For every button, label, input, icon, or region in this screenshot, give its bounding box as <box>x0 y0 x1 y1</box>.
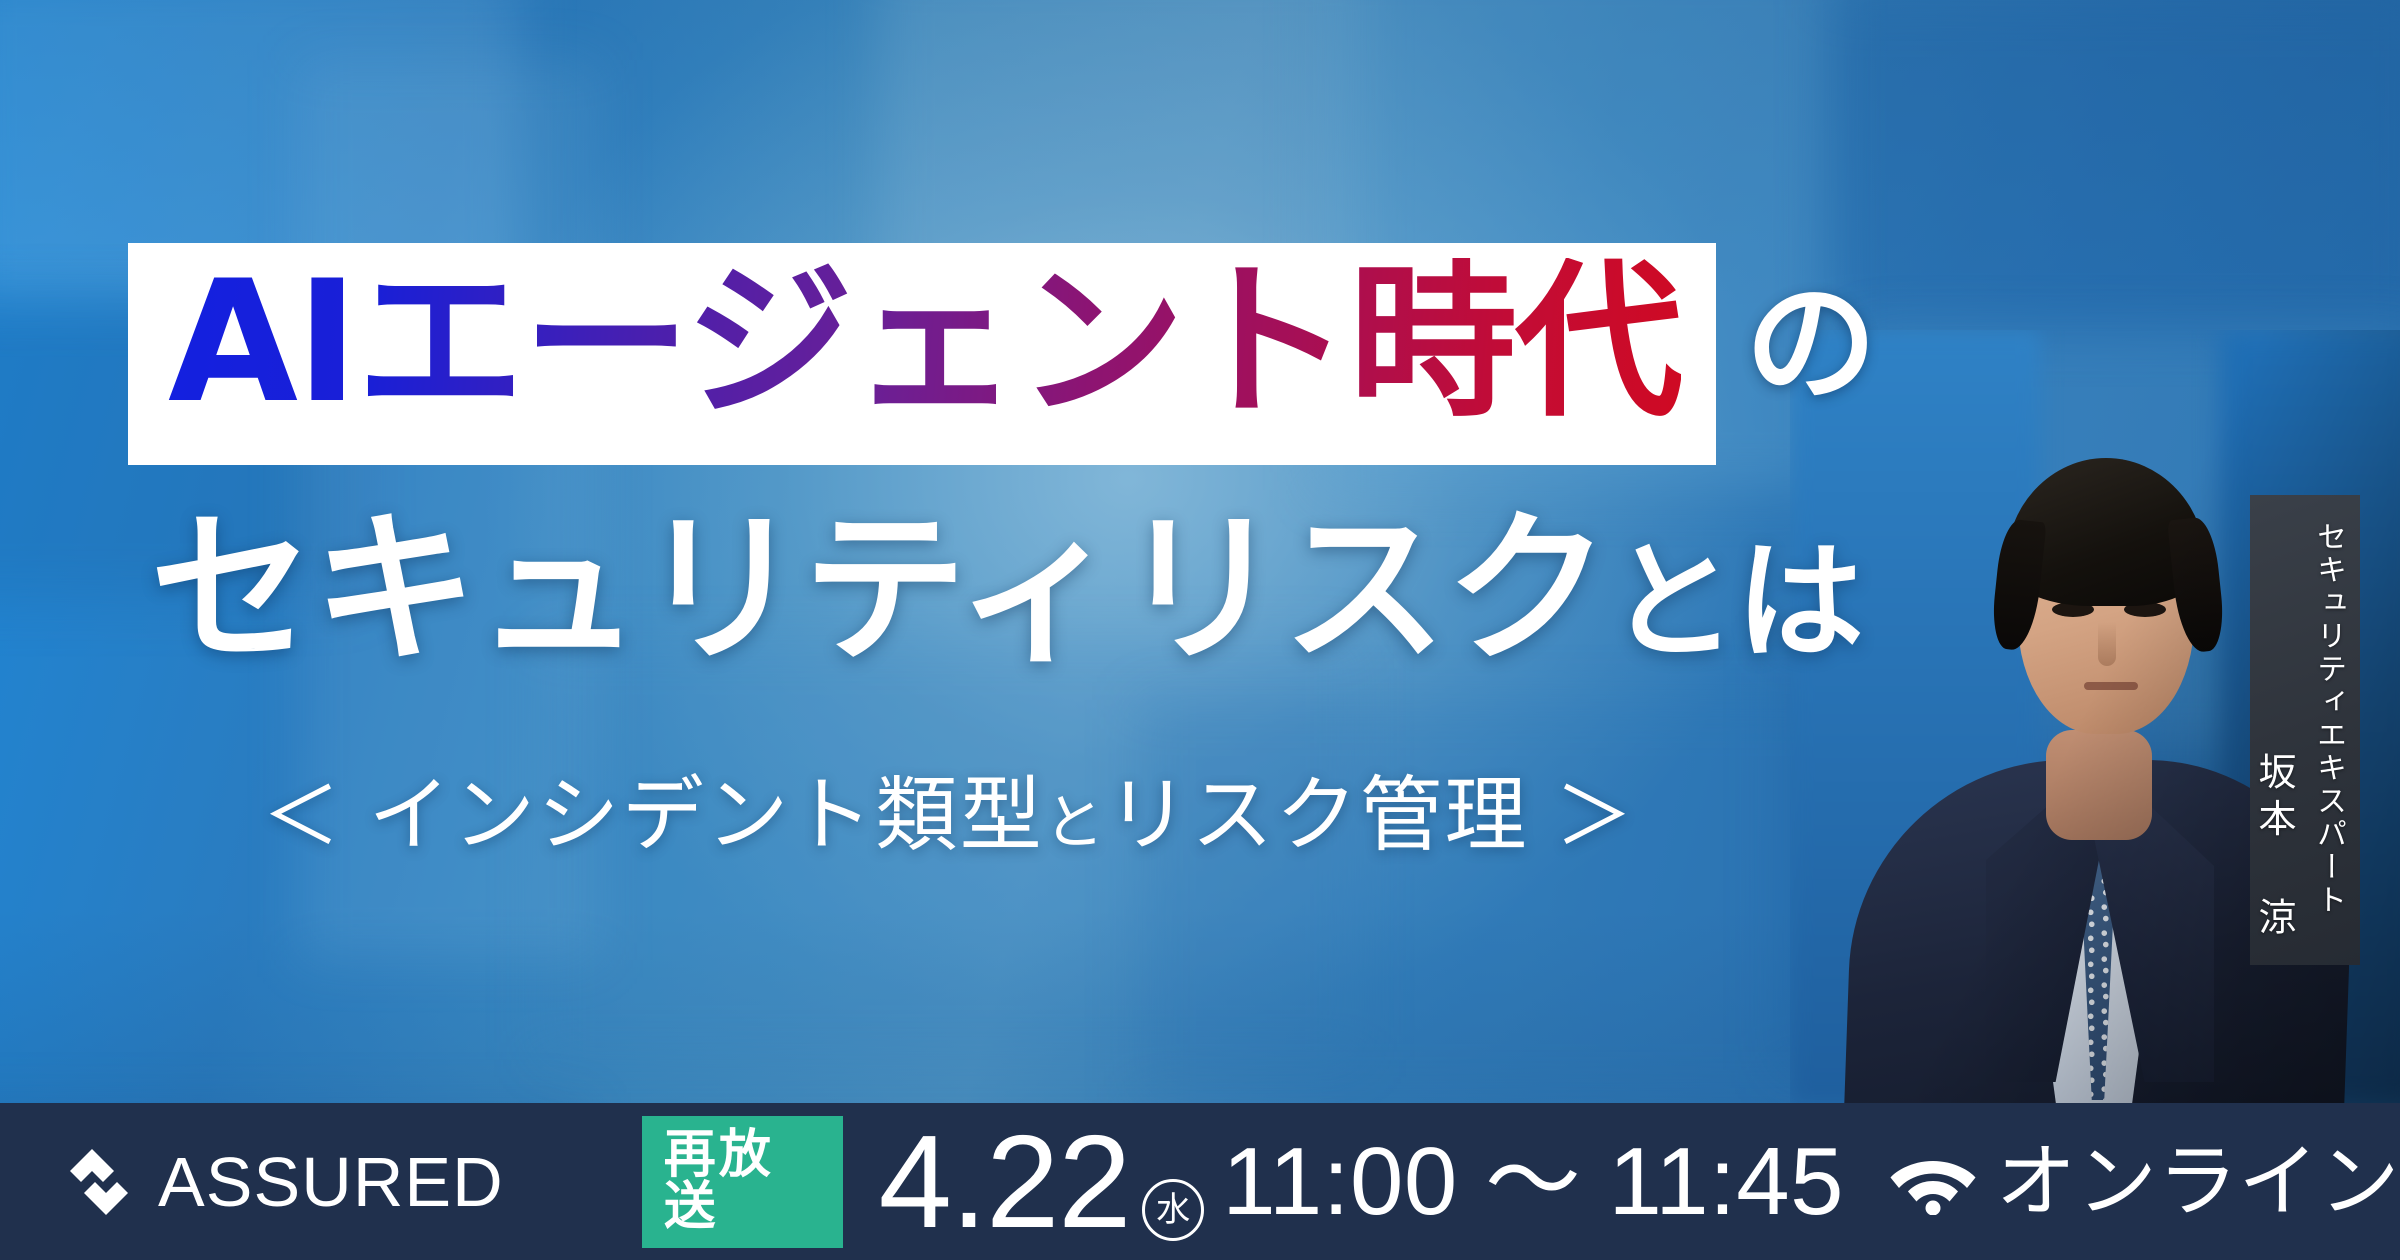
event-time: 11:00 〜 11:45 <box>1222 1134 1844 1230</box>
rebroadcast-badge: 再放送 <box>642 1116 843 1248</box>
subtitle-part-a: インシデント類型 <box>368 768 1044 863</box>
bracket-close-icon: ＞ <box>1529 772 1661 862</box>
speaker-title: セキュリティエキスパート <box>2306 521 2350 917</box>
headline-subtitle: ＜インシデント類型とリスク管理＞ <box>236 775 1661 857</box>
event-venue-group: オンライン <box>1890 1142 2400 1222</box>
subtitle-part-b: リスク管理 <box>1107 768 1529 863</box>
assured-wordmark: ASSURED <box>158 1142 504 1222</box>
headline-line2-tail: とは <box>1609 528 1863 677</box>
headline-line2-main: セキュリティリスク <box>150 494 1609 685</box>
assured-logo[interactable]: ASSURED <box>62 1142 504 1222</box>
bracket-open-icon: ＜ <box>236 772 368 862</box>
headline-gradient-text: AIエージェント時代 <box>168 258 1681 426</box>
day-of-week-badge: 水 <box>1142 1179 1204 1241</box>
assured-diamond-check-icon <box>62 1145 136 1219</box>
headline-suffix: の <box>1745 278 1877 410</box>
event-venue: オンライン <box>1996 1142 2400 1222</box>
wifi-icon <box>1890 1149 1976 1215</box>
headline-line2: セキュリティリスクとは <box>150 508 1863 672</box>
event-date-group: 4.22 水 <box>879 1116 1205 1248</box>
subtitle-conjunction: と <box>1044 788 1106 858</box>
webinar-banner: セキュリティエキスパート 坂本 涼 AIエージェント時代 の セキュリティリスク… <box>0 0 2400 1260</box>
speaker-name: 坂本 涼 <box>2247 752 2302 943</box>
event-info-bar: ASSURED 再放送 4.22 水 11:00 〜 11:45 オンライン <box>0 1103 2400 1260</box>
event-date: 4.22 <box>879 1116 1131 1248</box>
speaker-nameplate: セキュリティエキスパート 坂本 涼 <box>2250 495 2360 965</box>
